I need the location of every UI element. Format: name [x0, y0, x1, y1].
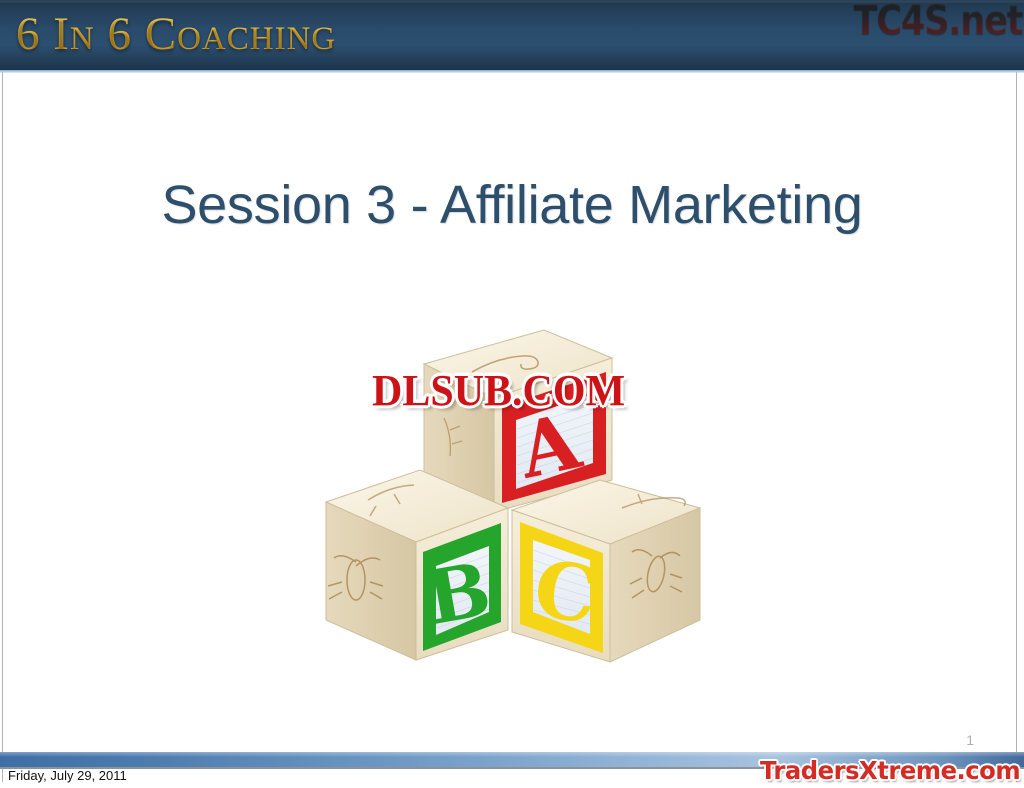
block-c: C: [512, 480, 700, 662]
dlsub-watermark: DLSUB.COM: [372, 367, 625, 416]
slide-page-number: 1: [966, 732, 974, 748]
presentation-slide: 6 In 6 Coaching TC4S.net Session 3 - Aff…: [0, 0, 1024, 788]
slide-header-banner: 6 In 6 Coaching TC4S.net: [0, 0, 1024, 70]
tc4s-logo: TC4S.net: [853, 0, 1022, 44]
brand-title: 6 In 6 Coaching: [16, 6, 336, 62]
footer-date: Friday, July 29, 2011: [8, 768, 127, 783]
tradersxtreme-logo: TradersXtreme.com: [760, 756, 1020, 786]
svg-text:C: C: [529, 543, 603, 642]
page-title: Session 3 - Affiliate Marketing: [0, 172, 1024, 238]
block-b: B: [326, 470, 508, 660]
header-underline-white: [0, 73, 1024, 75]
